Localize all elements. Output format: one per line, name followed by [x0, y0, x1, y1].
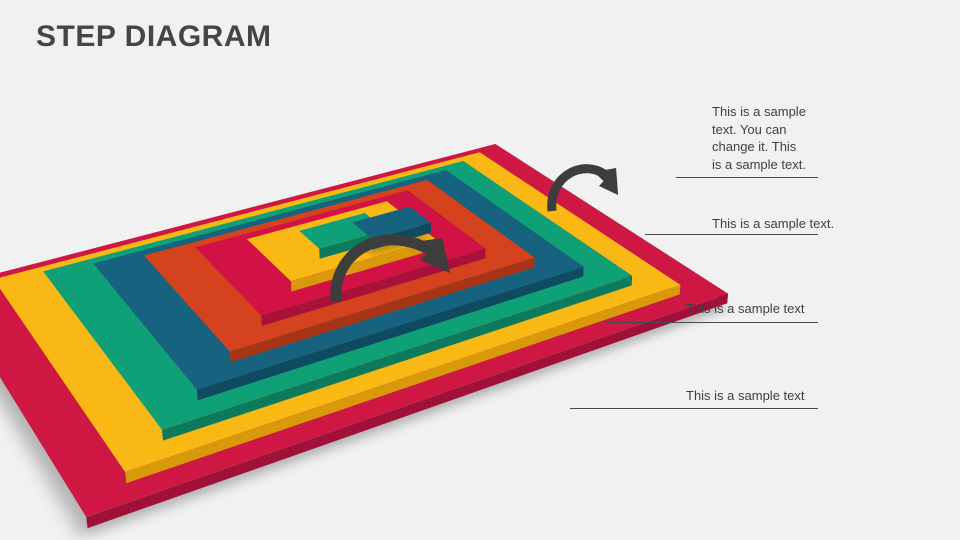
- callout-1-text: This is a sample text. You can change it…: [712, 103, 892, 173]
- callout-4-text: This is a sample text: [686, 387, 886, 405]
- step-diagram-graphic: [0, 0, 960, 540]
- callout-2-leader-line: [645, 234, 818, 235]
- slide-canvas: STEP DIAGRAM: [0, 0, 960, 540]
- callout-3-text: This is a sample text: [686, 300, 886, 318]
- callout-2-text: This is a sample text.: [712, 215, 912, 233]
- callout-4-leader-line: [570, 408, 818, 409]
- callout-1-leader-line: [676, 177, 818, 178]
- callout-3-leader-line: [605, 322, 818, 323]
